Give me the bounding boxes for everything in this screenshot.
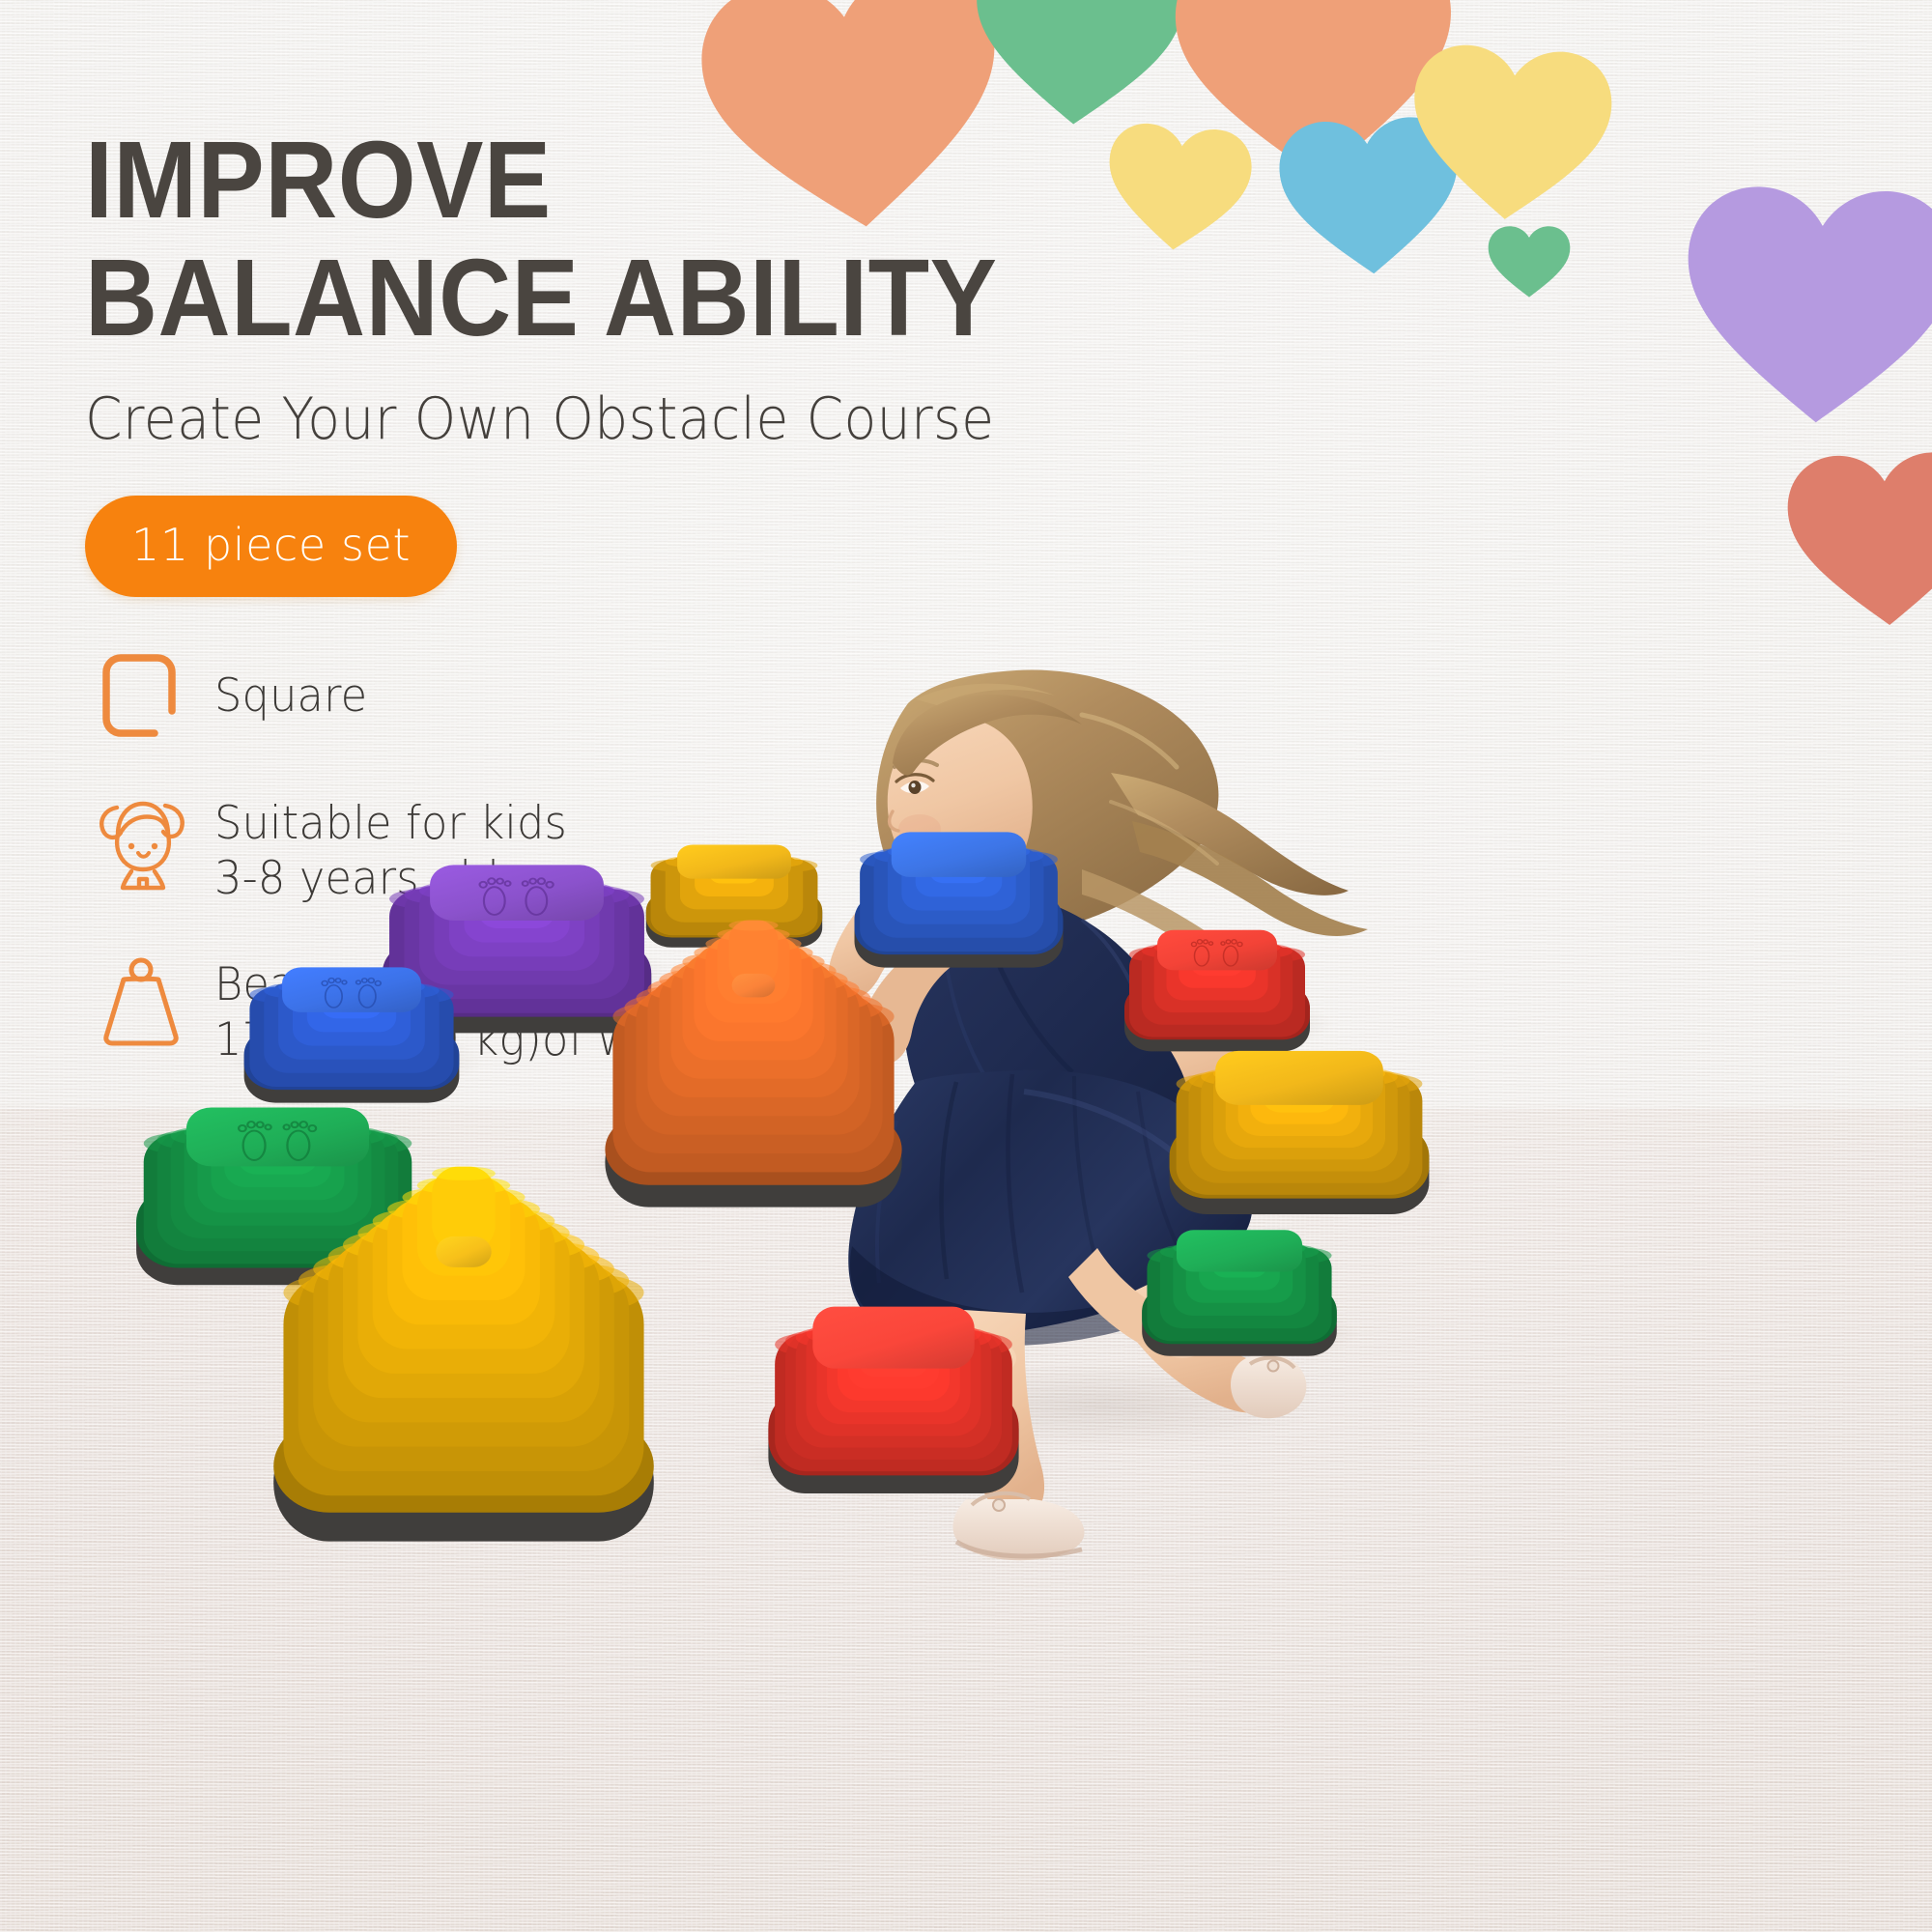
stone-yellow-large [266, 1207, 662, 1517]
feature-item-square: Square [85, 651, 1070, 740]
stone-blue-left [240, 952, 464, 1092]
feature-square-label: Square [214, 651, 367, 724]
square-icon [85, 651, 214, 740]
stone-orange-big [599, 952, 908, 1188]
stone-red-right [1121, 916, 1314, 1041]
product-marketing-image: IMPROVE BALANCE ABILITY Create Your Own … [0, 0, 1932, 1932]
stone-red-bottom [763, 1285, 1024, 1478]
page-title: IMPROVE BALANCE ABILITY [85, 124, 991, 355]
weight-icon [85, 953, 214, 1050]
stone-blue-behind [850, 816, 1067, 956]
piece-count-badge: 11 piece set [85, 496, 457, 597]
feature-age-line-1: Suitable for kids [214, 797, 567, 850]
subtitle: Create Your Own Obstacle Course [85, 387, 991, 451]
headline-line-2: BALANCE ABILITY [85, 241, 991, 355]
headline-line-1: IMPROVE [85, 119, 552, 241]
stone-green-right [1138, 1215, 1341, 1346]
girl-face-icon [85, 792, 214, 893]
stone-yellow-right [1164, 1032, 1435, 1201]
